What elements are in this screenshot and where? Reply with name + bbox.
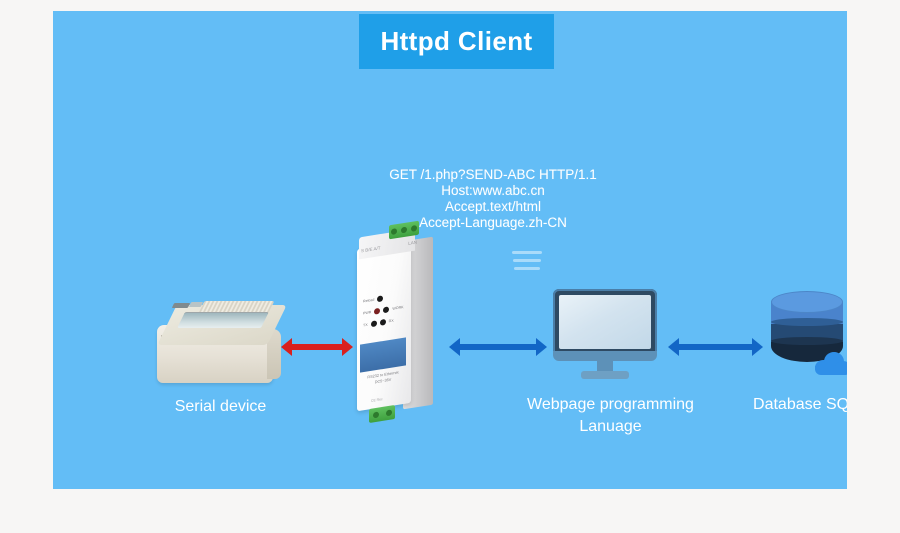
led-row-tx-rx: TX RX <box>363 316 407 329</box>
label-database-sql: Database SQL <box>708 394 847 416</box>
led-label-rx: RX <box>389 319 394 324</box>
http-request-line-3: Accept.text/html <box>348 199 638 215</box>
led-rx-icon <box>380 319 386 326</box>
led-label-pwr: PWR <box>363 310 371 315</box>
led-pwr-icon <box>374 308 380 315</box>
module-led-panel: Reload PWR WORK TX RX <box>363 292 407 337</box>
database-cylinder-icon <box>767 291 847 381</box>
http-request-line-1: GET /1.php?SEND-ABC HTTP/1.1 <box>348 167 638 183</box>
http-request-line-2: Host:www.abc.cn <box>348 183 638 199</box>
led-row-pwr-work: PWR WORK <box>363 304 407 317</box>
arrow-serial-to-module <box>281 338 353 356</box>
led-label-reload: Reload <box>363 298 374 304</box>
led-label-tx: TX <box>363 323 368 328</box>
title-banner: Httpd Client <box>359 14 554 69</box>
led-work-icon <box>383 306 389 313</box>
label-serial-device: Serial device <box>113 396 328 418</box>
label-webpage-line1: Webpage programming <box>527 396 694 413</box>
module-model-line2: DC5~36V <box>375 377 392 384</box>
diagram-stage: Httpd Client GET /1.php?SEND-ABC HTTP/1.… <box>53 11 847 489</box>
green-terminal-block-bottom-icon <box>369 405 395 423</box>
led-label-work: WORK <box>392 305 403 311</box>
led-reload-icon <box>377 295 383 302</box>
page-title: Httpd Client <box>380 26 532 57</box>
http-request-text: GET /1.php?SEND-ABC HTTP/1.1 Host:www.ab… <box>348 167 638 231</box>
cloud-icon <box>813 351 847 377</box>
arrow-webpage-to-database <box>668 338 763 356</box>
label-webpage-programming: Webpage programming Lanuage <box>478 394 743 438</box>
din-rail-serial-server-icon: S B/E A/T LAN Reload PWR WORK <box>349 223 445 421</box>
serial-device-printer-icon <box>157 299 281 387</box>
continuation-dashes-icon <box>509 251 545 275</box>
led-tx-icon <box>371 320 377 327</box>
label-webpage-line2: Lanuage <box>579 418 641 435</box>
desktop-monitor-icon <box>553 289 657 381</box>
arrow-module-to-webpage <box>449 338 547 356</box>
page-root: Httpd Client GET /1.php?SEND-ABC HTTP/1.… <box>0 0 900 533</box>
